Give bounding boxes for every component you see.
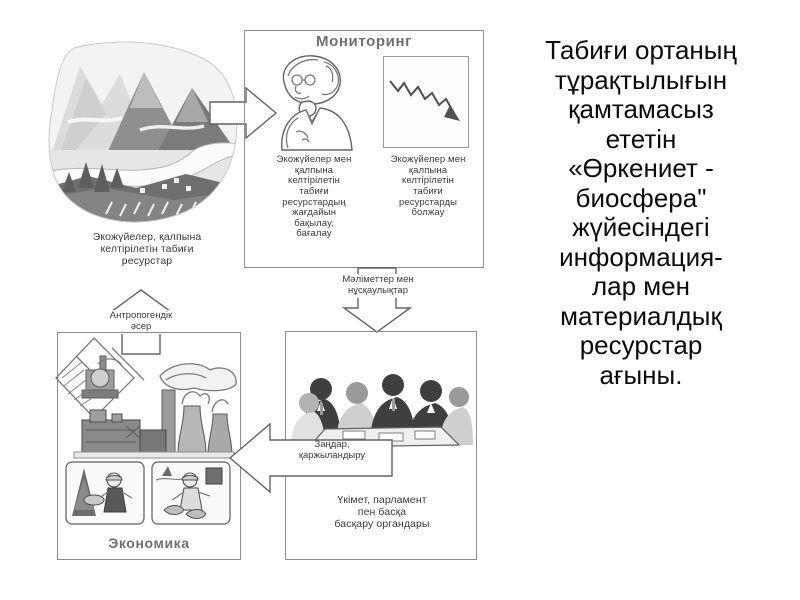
arrow-label-laws-financing: Заңдар, қаржыландыру — [272, 440, 392, 462]
arrow-label-data-instructions: Мәліметтер мен нұсқаулықтар — [298, 274, 458, 298]
economy-title: Экономика — [57, 535, 241, 551]
government-caption: Үкімет, парламент пен басқа басқару орга… — [292, 495, 472, 530]
economy-illustration — [60, 334, 238, 532]
monitoring-left-caption: Экожүйелер мен қалпына келтірілетін таби… — [256, 155, 372, 240]
thinking-person-illustration — [262, 52, 372, 152]
monitoring-title: Мониторинг — [244, 33, 484, 50]
slide-title-text: Табиғи ортаның тұрақтылығын қамтамасыз е… — [486, 36, 796, 390]
monitoring-right-caption: Экожүйелер мен қалпына келтірілетін таби… — [376, 155, 480, 219]
arrow-label-anthropogenic-impact: Антропогендік әсер — [60, 310, 222, 334]
declining-trend-chart — [383, 56, 469, 148]
nature-caption: Экожүйелер, қалпына келтірілетін табиғи … — [58, 232, 236, 267]
